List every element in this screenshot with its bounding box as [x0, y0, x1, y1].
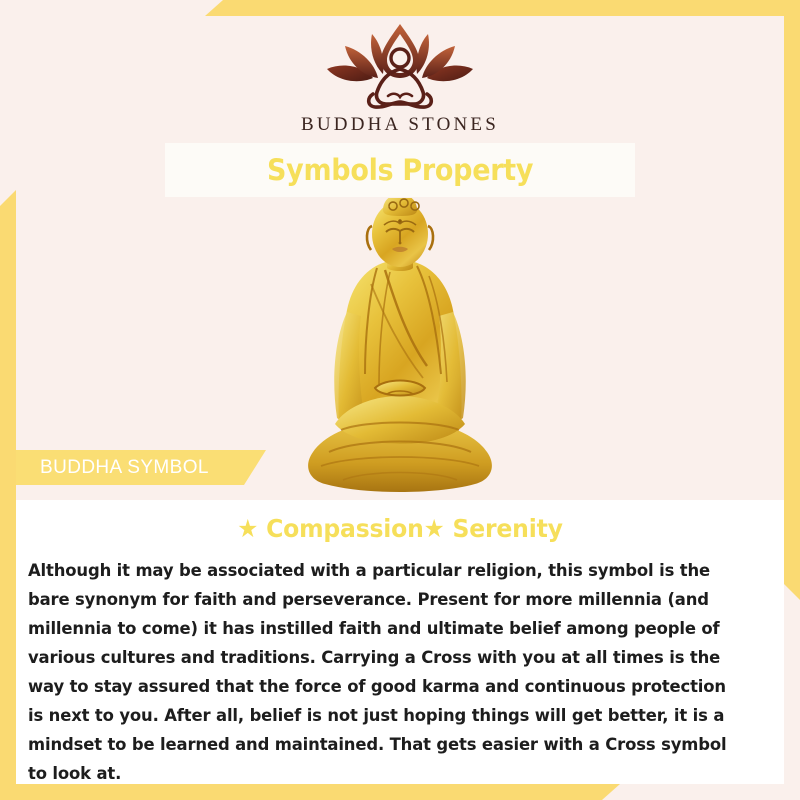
page-title: Symbols Property	[267, 153, 533, 187]
content-paragraph: Although it may be associated with a par…	[28, 557, 739, 789]
content-card: ★ Compassion★ Serenity Although it may b…	[16, 500, 784, 784]
content-subtitle: ★ Compassion★ Serenity	[39, 514, 761, 543]
brand-logo: BUDDHA STONES	[0, 22, 800, 136]
promo-banner-page: BUDDHA STONES Symbols Property	[0, 0, 800, 800]
seated-golden-buddha-illustration	[295, 198, 505, 503]
title-banner: Symbols Property	[165, 143, 635, 197]
brand-name: BUDDHA STONES	[0, 114, 800, 136]
top-yellow-band	[205, 0, 800, 16]
buddha-symbol-tag: BUDDHA SYMBOL	[16, 450, 266, 485]
buddha-symbol-tag-label: BUDDHA SYMBOL	[16, 457, 209, 479]
lotus-meditation-icon	[0, 22, 800, 110]
